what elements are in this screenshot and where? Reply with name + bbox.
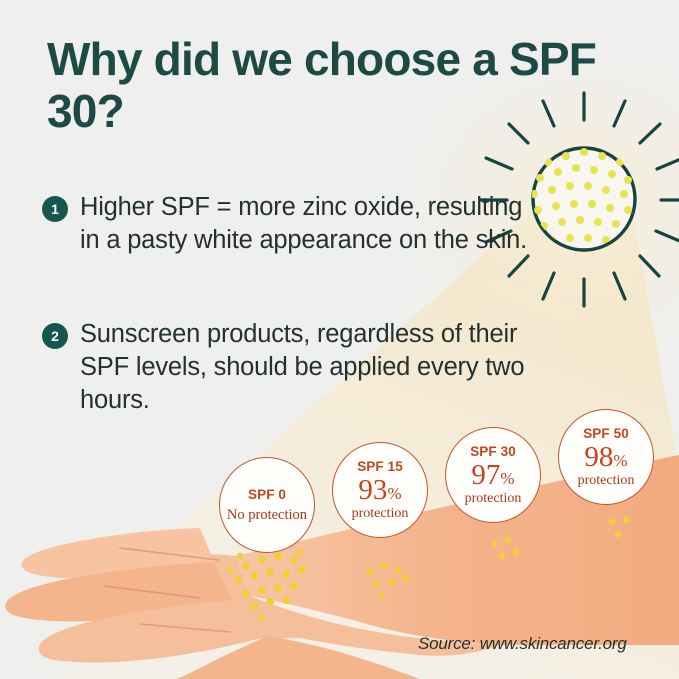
page-title: Why did we choose a SPF 30? [47,34,607,138]
list-item: 2 Sunscreen products, regardless of thei… [42,318,542,417]
spf-level-label: SPF 50 [583,426,629,441]
list-item: 1 Higher SPF = more zinc oxide, resultin… [42,191,542,257]
infographic-canvas: Why did we choose a SPF 30? 1 Higher SPF… [0,0,679,679]
list-number-badge: 1 [42,196,68,222]
spf-badge-3: SPF 50 98% protection [558,409,654,505]
list-item-text: Higher SPF = more zinc oxide, resulting … [80,191,542,257]
source-attribution: Source: www.skincancer.org [418,634,627,654]
spf-badge-2: SPF 30 97% protection [445,427,541,523]
list-item-text: Sunscreen products, regardless of their … [80,318,542,417]
list-number-badge: 2 [42,323,68,349]
spf-level-label: SPF 30 [470,444,516,459]
spf-level-label: SPF 0 [248,487,286,502]
spf-protection-text: protection [352,506,409,522]
spf-badge-1: SPF 15 93% protection [332,442,428,538]
spf-percent-value: 97% [471,461,514,490]
spf-protection-text: No protection [227,507,307,524]
spf-protection-text: protection [465,491,522,507]
spf-protection-text: protection [578,473,635,489]
spf-badge-0: SPF 0 No protection [219,457,315,553]
spf-percent-value: 98% [584,443,627,472]
spf-percent-value: 93% [358,476,401,505]
spf-level-label: SPF 15 [357,459,403,474]
